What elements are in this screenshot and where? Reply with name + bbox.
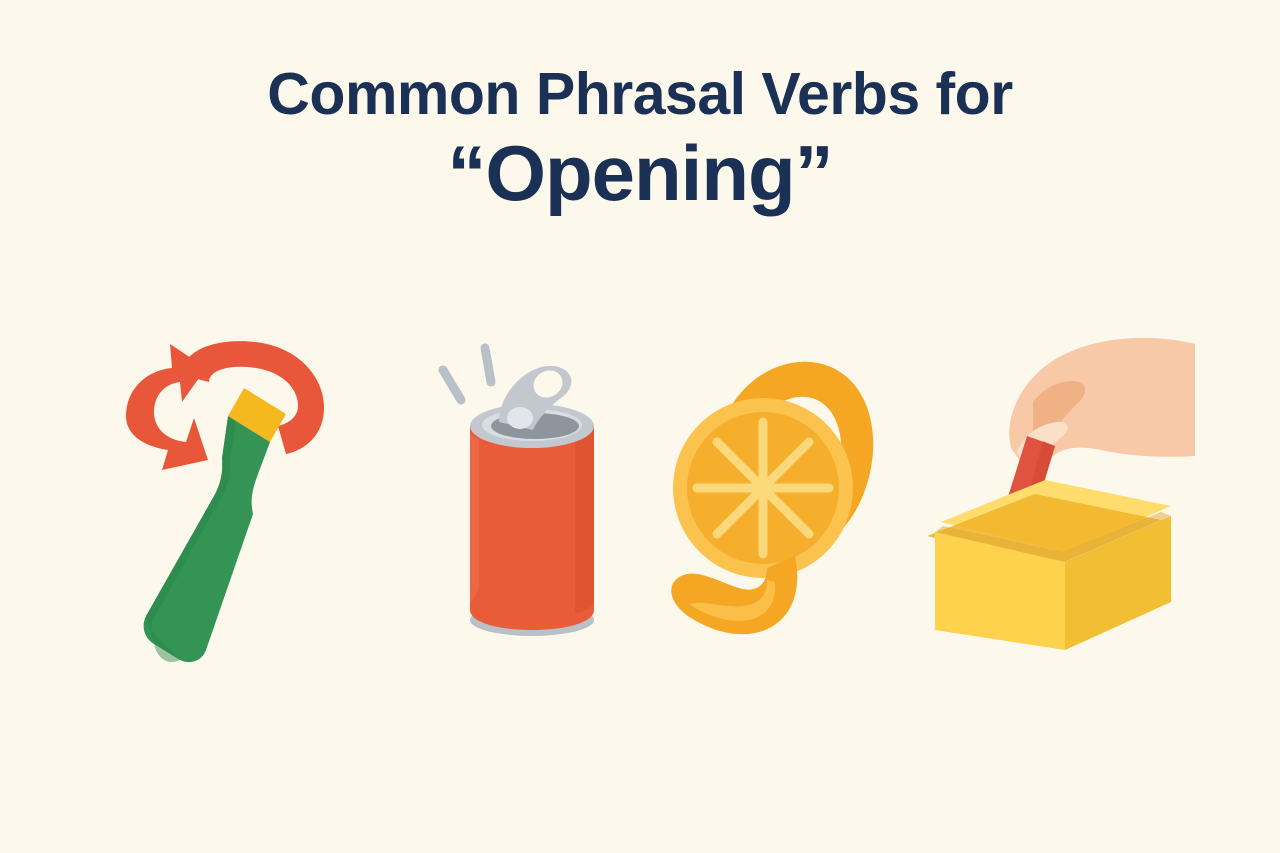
cardboard-box-icon [927, 480, 1171, 650]
page-title: Common Phrasal Verbs for “Opening” [0, 64, 1280, 216]
title-line-2: “Opening” [0, 125, 1280, 215]
poster: Common Phrasal Verbs for “Opening” [0, 0, 1280, 853]
motion-lines-icon [443, 348, 491, 400]
box-cutter-illustration [915, 330, 1195, 670]
bottle-opener-illustration [110, 330, 360, 670]
orange-peel-illustration [655, 330, 895, 670]
bottle-icon [144, 388, 286, 662]
title-line-1: Common Phrasal Verbs for [0, 64, 1280, 125]
illustration-row [0, 330, 1280, 670]
soda-can-illustration [415, 330, 645, 670]
